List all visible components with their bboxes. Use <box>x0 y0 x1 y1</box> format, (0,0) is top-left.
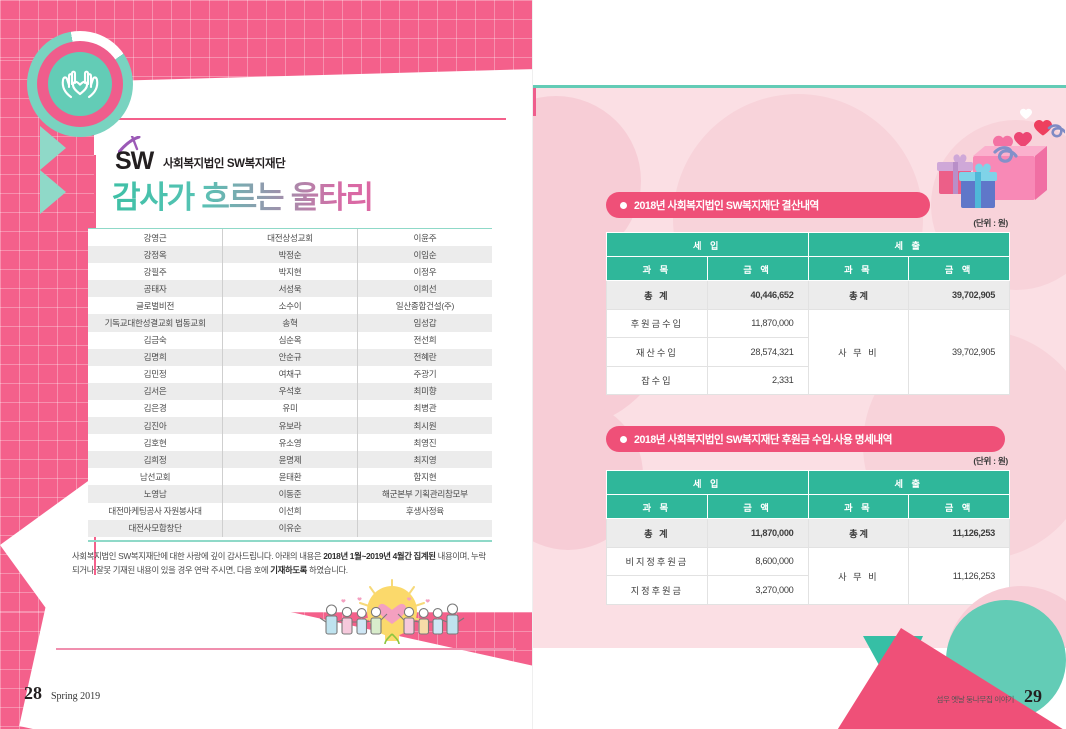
donor-cell: 임성갑 <box>357 314 492 331</box>
donor-cell: 박정순 <box>223 246 358 263</box>
gift-boxes-hearts-icon <box>925 104 1065 214</box>
settlement-table: 세 입 세 출 과 목 금 액 과 목 금 액 총 계40,446,652총 계… <box>606 232 1010 395</box>
income-amount-cell: 8,600,000 <box>707 547 808 576</box>
donor-cell: 전선희 <box>357 332 492 349</box>
section2-unit-label: (단위 : 원) <box>973 455 1008 467</box>
horizontal-pink-rule <box>96 118 506 120</box>
donor-cell: 남선교회 <box>88 468 223 485</box>
table-row: 김진아유보라최시원 <box>88 417 492 434</box>
right-page: 2018년 사회복지법인 SW복지재단 결산내역 (단위 : 원) 세 입 세 … <box>533 0 1066 729</box>
income-item-cell: 지정후원금 <box>607 576 708 605</box>
table-head-column-row: 과 목 금 액 과 목 금 액 <box>607 495 1010 519</box>
brand-caption: 사회복지법인 SW복지재단 <box>163 155 285 173</box>
donor-cell: 유미 <box>223 400 358 417</box>
donor-cell: 대전상성교회 <box>223 229 358 246</box>
page-gutter <box>532 0 533 729</box>
expense-total-item-cell: 총 계 <box>808 519 909 548</box>
income-amount-cell: 2,331 <box>707 366 808 395</box>
donor-cell: 최미향 <box>357 383 492 400</box>
page-number: 29 <box>1024 686 1042 707</box>
donor-cell: 서성욱 <box>223 280 358 297</box>
settlement-table-head: 세 입 세 출 과 목 금 액 과 목 금 액 <box>607 233 1010 281</box>
expense-total-amount-cell: 39,702,905 <box>909 281 1010 310</box>
sw-logo-mark: SW <box>112 139 156 173</box>
hands-heart-icon <box>48 52 112 116</box>
table-row: 김호현유소영최영진 <box>88 434 492 451</box>
income-item-cell: 잡수입 <box>607 366 708 395</box>
teal-top-rule <box>533 85 1066 88</box>
chevron-icon <box>40 170 66 214</box>
expense-amount-cell: 39,702,905 <box>909 309 1010 395</box>
income-item-cell: 재산수입 <box>607 338 708 367</box>
donor-cell: 김명희 <box>88 349 223 366</box>
donor-cell: 김민정 <box>88 366 223 383</box>
table-row: 김명희안순규전혜란 <box>88 349 492 366</box>
expense-item-cell: 사 무 비 <box>808 547 909 604</box>
expense-item-cell: 사 무 비 <box>808 309 909 395</box>
donor-cell: 강정옥 <box>88 246 223 263</box>
donor-cell: 이윤주 <box>357 229 492 246</box>
donor-cell: 김은경 <box>88 400 223 417</box>
donor-cell: 안순규 <box>223 349 358 366</box>
income-amount-header: 금 액 <box>707 495 808 519</box>
table-row: 남선교회윤태환함지현 <box>88 468 492 485</box>
donor-cell: 심순옥 <box>223 332 358 349</box>
donor-cell: 김서은 <box>88 383 223 400</box>
donor-cell: 이희선 <box>357 280 492 297</box>
issue-label: 섬우 옛날 둥나무집 이야기 <box>936 694 1014 705</box>
income-item-header: 과 목 <box>607 495 708 519</box>
donor-cell: 함지현 <box>357 468 492 485</box>
donor-cell: 여채구 <box>223 366 358 383</box>
donor-cell: 최병관 <box>357 400 492 417</box>
donor-cell: 윤태환 <box>223 468 358 485</box>
table-row: 후원금수입11,870,000사 무 비39,702,905 <box>607 309 1010 338</box>
donor-cell: 노영남 <box>88 485 223 502</box>
donor-cell: 후생사정육 <box>357 503 492 520</box>
table-row: 노영남이동준해군본부 기획관리참모부 <box>88 485 492 502</box>
sw-logo-text: SW <box>115 147 153 176</box>
donor-cell: 김호현 <box>88 434 223 451</box>
income-amount-cell: 28,574,321 <box>707 338 808 367</box>
donor-table: 강영근대전상성교회이윤주강정옥박정순이임순강필주박지현이정우공태자서성욱이희선글… <box>88 229 492 537</box>
donor-cell: 유보라 <box>223 417 358 434</box>
table-row: 김희정윤명제최지영 <box>88 451 492 468</box>
bullet-dot-icon <box>620 202 627 209</box>
donor-cell: 최영진 <box>357 434 492 451</box>
note-part1: 사회복지법인 SW복지재단에 대한 사랑에 깊이 감사드립니다. 아래의 내용은 <box>72 551 323 561</box>
right-page-footer: 섬우 옛날 둥나무집 이야기 29 <box>936 686 1042 707</box>
expense-amount-header: 금 액 <box>909 495 1010 519</box>
donor-cell: 해군본부 기획관리참모부 <box>357 485 492 502</box>
income-item-cell: 총 계 <box>607 281 708 310</box>
donor-cell: 우석호 <box>223 383 358 400</box>
table-head-group-row: 세 입 세 출 <box>607 233 1010 257</box>
donor-cell: 대전마케팅공사 자원봉사대 <box>88 503 223 520</box>
donor-cell: 이정우 <box>357 263 492 280</box>
donor-cell: 대전사모합창단 <box>88 520 223 537</box>
table-row: 강영근대전상성교회이윤주 <box>88 229 492 246</box>
table-row: 김은경유미최병관 <box>88 400 492 417</box>
income-amount-cell: 11,870,000 <box>707 309 808 338</box>
expense-group-header: 세 출 <box>808 471 1010 495</box>
donor-cell: 박지현 <box>223 263 358 280</box>
donor-cell: 전혜란 <box>357 349 492 366</box>
donor-table-bottom-rule <box>88 540 492 542</box>
income-amount-cell: 40,446,652 <box>707 281 808 310</box>
donor-cell: 최시원 <box>357 417 492 434</box>
income-amount-header: 금 액 <box>707 257 808 281</box>
table-row: 대전사모합창단이유순 <box>88 520 492 537</box>
donor-cell: 송혁 <box>223 314 358 331</box>
donor-cell: 글로벌비전 <box>88 297 223 314</box>
brand-logo: SW 사회복지법인 SW복지재단 <box>112 139 512 173</box>
table-row: 대전마케팅공사 자원봉사대이선희후생사정육 <box>88 503 492 520</box>
donor-cell: 기독교대한성결교회 법동교회 <box>88 314 223 331</box>
note-bold1: 2018년 1월~2019년 4월간 집계된 <box>323 551 435 561</box>
donation-detail-table: 세 입 세 출 과 목 금 액 과 목 금 액 총 계11,870,000총 계… <box>606 470 1010 605</box>
expense-item-header: 과 목 <box>808 495 909 519</box>
expense-total-amount-cell: 11,126,253 <box>909 519 1010 548</box>
donor-cell: 소수이 <box>223 297 358 314</box>
page-number: 28 <box>24 683 42 704</box>
donor-cell: 이임순 <box>357 246 492 263</box>
table-row: 비지정후원금8,600,000사 무 비11,126,253 <box>607 547 1010 576</box>
note-bold2: 기재하도록 <box>270 565 307 575</box>
donor-cell: 유소영 <box>223 434 358 451</box>
table-row: 강정옥박정순이임순 <box>88 246 492 263</box>
expense-amount-header: 금 액 <box>909 257 1010 281</box>
donor-cell <box>357 520 492 537</box>
income-item-header: 과 목 <box>607 257 708 281</box>
table-row: 김서은우석호최미향 <box>88 383 492 400</box>
section1-banner: 2018년 사회복지법인 SW복지재단 결산내역 <box>606 192 930 218</box>
settlement-table-body: 총 계40,446,652총 계39,702,905후원금수입11,870,00… <box>607 281 1010 395</box>
magazine-spread: SW 사회복지법인 SW복지재단 감사가 흐르는 울타리 강영근대전상성교회이윤… <box>0 0 1066 729</box>
donor-cell: 일산종합건설(주) <box>357 297 492 314</box>
donor-cell: 이유순 <box>223 520 358 537</box>
table-row: 글로벌비전소수이일산종합건설(주) <box>88 297 492 314</box>
section2-banner-label: 2018년 사회복지법인 SW복지재단 후원금 수입·사용 명세내역 <box>634 432 892 447</box>
page-header: SW 사회복지법인 SW복지재단 감사가 흐르는 울타리 <box>112 139 512 216</box>
donation-table-head: 세 입 세 출 과 목 금 액 과 목 금 액 <box>607 471 1010 519</box>
lightbulb-heart-people-icon <box>300 578 485 650</box>
acknowledgement-note: 사회복지법인 SW복지재단에 대한 사랑에 깊이 감사드립니다. 아래의 내용은… <box>72 549 492 578</box>
donor-cell: 이선희 <box>223 503 358 520</box>
donor-cell: 윤명제 <box>223 451 358 468</box>
section1-banner-label: 2018년 사회복지법인 SW복지재단 결산내역 <box>634 198 819 213</box>
expense-group-header: 세 출 <box>808 233 1010 257</box>
section1-unit-label: (단위 : 원) <box>973 217 1008 229</box>
bullet-dot-icon <box>620 436 627 443</box>
donor-cell: 이동준 <box>223 485 358 502</box>
income-group-header: 세 입 <box>607 233 809 257</box>
income-amount-cell: 11,870,000 <box>707 519 808 548</box>
foundation-badge <box>27 31 133 137</box>
table-row: 김민정여채구주광기 <box>88 366 492 383</box>
table-row: 강필주박지현이정우 <box>88 263 492 280</box>
left-page: SW 사회복지법인 SW복지재단 감사가 흐르는 울타리 강영근대전상성교회이윤… <box>0 0 533 729</box>
donor-table-wrapper: 강영근대전상성교회이윤주강정옥박정순이임순강필주박지현이정우공태자서성욱이희선글… <box>88 229 492 537</box>
table-row: 기독교대한성결교회 법동교회송혁임성갑 <box>88 314 492 331</box>
table-row: 김금숙심순옥전선희 <box>88 332 492 349</box>
income-item-cell: 총 계 <box>607 519 708 548</box>
income-item-cell: 후원금수입 <box>607 309 708 338</box>
income-group-header: 세 입 <box>607 471 809 495</box>
donor-cell: 강필주 <box>88 263 223 280</box>
donor-cell: 김진아 <box>88 417 223 434</box>
pink-edge-mark <box>533 88 536 116</box>
table-head-column-row: 과 목 금 액 과 목 금 액 <box>607 257 1010 281</box>
left-page-footer: 28 Spring 2019 <box>24 683 100 704</box>
donor-cell: 김희정 <box>88 451 223 468</box>
income-item-cell: 비지정후원금 <box>607 547 708 576</box>
page-title: 감사가 흐르는 울타리 <box>112 180 512 216</box>
table-head-group-row: 세 입 세 출 <box>607 471 1010 495</box>
note-part3: 하였습니다. <box>307 565 348 575</box>
donor-cell: 강영근 <box>88 229 223 246</box>
income-amount-cell: 3,270,000 <box>707 576 808 605</box>
donation-table-body: 총 계11,870,000총 계11,126,253비지정후원금8,600,00… <box>607 519 1010 605</box>
section2-banner: 2018년 사회복지법인 SW복지재단 후원금 수입·사용 명세내역 <box>606 426 1005 452</box>
donor-table-body: 강영근대전상성교회이윤주강정옥박정순이임순강필주박지현이정우공태자서성욱이희선글… <box>88 229 492 537</box>
donor-cell: 최지영 <box>357 451 492 468</box>
donor-cell: 주광기 <box>357 366 492 383</box>
table-row: 총 계40,446,652총 계39,702,905 <box>607 281 1010 310</box>
table-row: 공태자서성욱이희선 <box>88 280 492 297</box>
donor-cell: 김금숙 <box>88 332 223 349</box>
donor-cell: 공태자 <box>88 280 223 297</box>
issue-label: Spring 2019 <box>51 691 100 702</box>
table-row: 총 계11,870,000총 계11,126,253 <box>607 519 1010 548</box>
expense-item-header: 과 목 <box>808 257 909 281</box>
expense-total-item-cell: 총 계 <box>808 281 909 310</box>
